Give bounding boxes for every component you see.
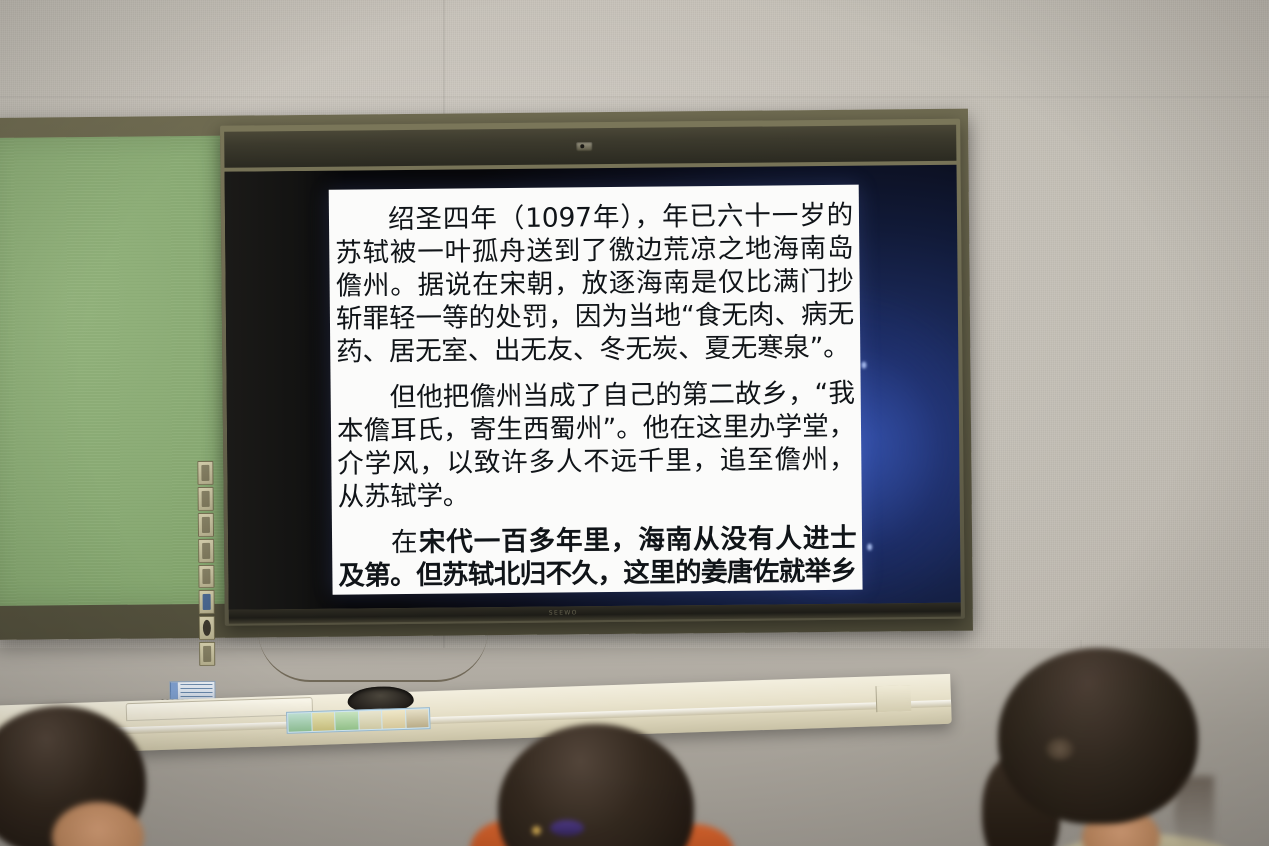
student-right-hair-tie	[1046, 738, 1074, 760]
chip-icon-1[interactable]	[197, 461, 213, 485]
student-right	[946, 648, 1226, 846]
student-right-hair	[998, 648, 1198, 824]
student-center-hair-tie	[550, 820, 584, 836]
wall-seam-horizontal	[0, 96, 1269, 98]
card-1	[288, 713, 311, 732]
camera-sensor-icon	[576, 142, 592, 151]
student-center-hair	[498, 724, 694, 846]
control-icon-strip[interactable]	[197, 461, 215, 666]
hanging-cable	[258, 630, 488, 682]
screen-specular-1	[861, 362, 866, 369]
slide-paragraph-2: 但他把儋州当成了自己的第二故乡，“我本儋耳氏，寄生西蜀州”。他在这里办学堂，介学…	[337, 377, 856, 514]
chip-icon-5[interactable]	[198, 564, 214, 588]
card-5	[382, 710, 405, 729]
interactive-display[interactable]: 绍圣四年（1097年），年已六十一岁的苏轼被一叶孤舟送到了徼边荒凉之地海南岛儋州…	[220, 119, 965, 626]
slide-paragraph-1: 绍圣四年（1097年），年已六十一岁的苏轼被一叶孤舟送到了徼边荒凉之地海南岛儋州…	[335, 199, 855, 369]
slide-paragraph-3: 在宋代一百多年里，海南从没有人进士及第。但苏轼北归不久，这里的姜唐佐就举乡贡。为…	[338, 522, 857, 595]
chip-icon-6[interactable]	[199, 590, 215, 614]
board-sticker-label	[169, 681, 215, 700]
display-brand-text: SEEWO	[549, 609, 578, 616]
p3-segment-1: 在	[391, 527, 419, 558]
slide-text-body: 绍圣四年（1097年），年已六十一岁的苏轼被一叶孤舟送到了徼边荒凉之地海南岛儋州…	[335, 199, 857, 595]
student-left	[0, 706, 164, 846]
sticker-cards[interactable]	[286, 707, 431, 734]
card-3	[335, 711, 358, 730]
chip-icon-4[interactable]	[198, 538, 214, 562]
student-right-loose-hair	[1174, 776, 1214, 846]
chip-icon-3[interactable]	[198, 513, 214, 537]
student-center	[470, 724, 720, 846]
presentation-slide[interactable]: 绍圣四年（1097年），年已六十一岁的苏轼被一叶孤舟送到了徼边荒凉之地海南岛儋州…	[329, 185, 863, 595]
card-2	[312, 712, 335, 731]
ledge-end-notch	[875, 685, 911, 712]
screen-specular-2	[867, 544, 872, 551]
student-center-hair-pin	[532, 826, 541, 835]
card-4	[359, 711, 382, 730]
display-top-bezel	[224, 125, 956, 168]
chip-icon-2[interactable]	[198, 487, 214, 511]
board-assembly: 绍圣四年（1097年），年已六十一岁的苏轼被一叶孤舟送到了徼边荒凉之地海南岛儋州…	[0, 109, 973, 640]
display-screen[interactable]: 绍圣四年（1097年），年已六十一岁的苏轼被一叶孤舟送到了徼边荒凉之地海南岛儋州…	[225, 165, 961, 610]
classroom-photo-scene: 绍圣四年（1097年），年已六十一岁的苏轼被一叶孤舟送到了徼边荒凉之地海南岛儋州…	[0, 0, 1269, 846]
chip-icon-8[interactable]	[199, 642, 215, 666]
chalkboard-texture	[0, 136, 225, 606]
card-6	[406, 709, 429, 728]
chip-icon-7[interactable]	[199, 616, 215, 640]
